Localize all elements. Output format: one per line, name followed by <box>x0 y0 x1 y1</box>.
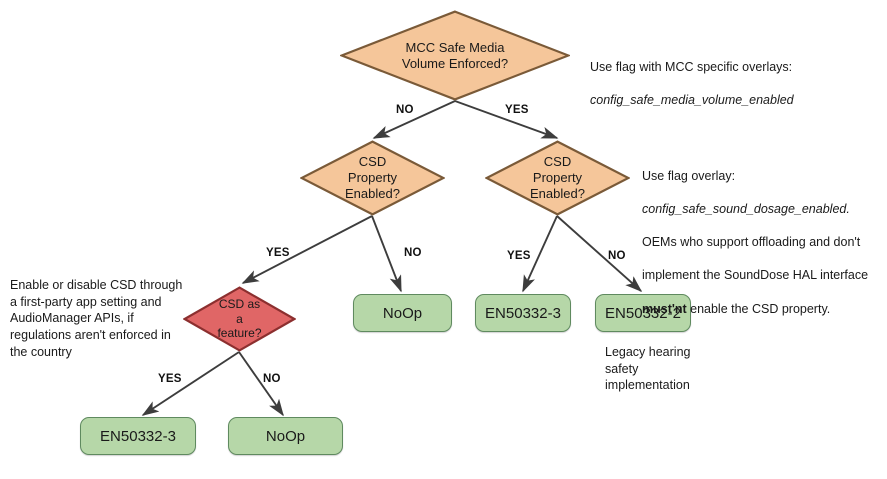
edge-label-right-csd-yes: YES <box>507 250 531 262</box>
node-label: EN50332-3 <box>100 428 176 445</box>
annotation-top-right: Use flag with MCC specific overlays: con… <box>590 42 840 109</box>
node-noop-mid[interactable]: NoOp <box>353 294 452 332</box>
annotation-emphasis: must'nt <box>642 302 687 316</box>
annotation-line-5-rest: enable the CSD property. <box>687 302 831 316</box>
flowchart-canvas: MCC Safe Media Volume Enforced? CSD Prop… <box>0 0 887 479</box>
edge-label-feature-yes: YES <box>158 373 182 385</box>
edge-label-right-csd-no: NO <box>608 250 626 262</box>
node-label: CSD as a feature? <box>217 297 261 341</box>
node-label: NoOp <box>383 305 422 322</box>
node-csd-property-enabled-right[interactable]: CSD Property Enabled? <box>485 140 630 216</box>
node-en50332-3-bottom[interactable]: EN50332-3 <box>80 417 196 455</box>
edge-label-feature-no: NO <box>263 373 281 385</box>
annotation-flag-name: config_safe_sound_dosage_enabled. <box>642 202 850 216</box>
annotation-line-1: Use flag with MCC specific overlays: <box>590 60 792 74</box>
node-label: MCC Safe Media Volume Enforced? <box>402 40 508 72</box>
node-csd-property-enabled-left[interactable]: CSD Property Enabled? <box>300 140 445 216</box>
node-label: NoOp <box>266 428 305 445</box>
edge-label-left-csd-no: NO <box>404 247 422 259</box>
annotation-flag-name: config_safe_media_volume_enabled <box>590 93 794 107</box>
edge-label-left-csd-yes: YES <box>266 247 290 259</box>
node-en50332-3-mid[interactable]: EN50332-3 <box>475 294 571 332</box>
annotation-left: Enable or disable CSD through a first-pa… <box>10 277 195 360</box>
node-label: CSD Property Enabled? <box>530 154 585 202</box>
annotation-line-1: Use flag overlay: <box>642 169 735 183</box>
node-label: CSD Property Enabled? <box>345 154 400 202</box>
annotation-legacy: Legacy hearing safety implementation <box>605 344 755 394</box>
edge-label-mcc-no: NO <box>396 104 414 116</box>
node-csd-as-a-feature[interactable]: CSD as a feature? <box>183 286 296 352</box>
annotation-mid-right: Use flag overlay: config_safe_sound_dosa… <box>642 151 887 317</box>
node-label: EN50332-3 <box>485 305 561 322</box>
annotation-line-4: implement the SoundDose HAL interface <box>642 268 868 282</box>
edge-label-mcc-yes: YES <box>505 104 529 116</box>
annotation-line-3: OEMs who support offloading and don't <box>642 235 860 249</box>
node-mcc-safe-media-volume-enforced[interactable]: MCC Safe Media Volume Enforced? <box>340 10 570 101</box>
node-noop-bottom[interactable]: NoOp <box>228 417 343 455</box>
